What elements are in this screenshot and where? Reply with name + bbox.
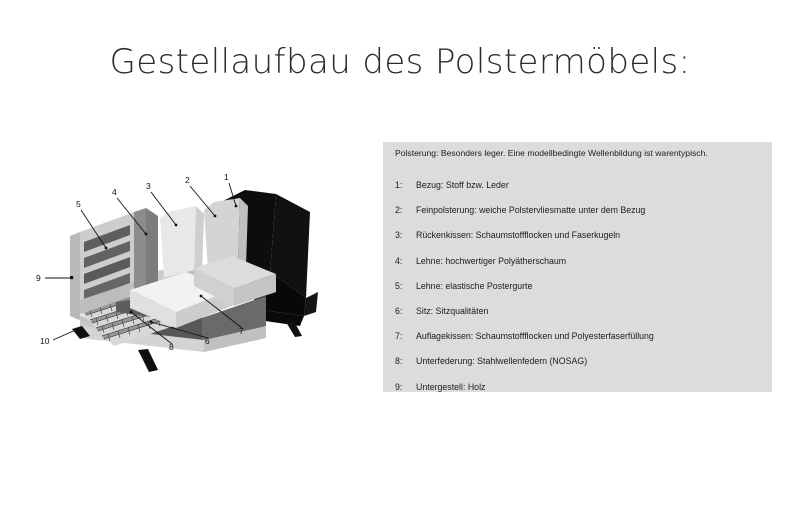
legend-item-number: 4: (395, 256, 416, 266)
legend-item-text: Sitz: Sitzqualitäten (416, 306, 765, 316)
legend-item-7: 7: Auflagekissen: Schaumstoffflocken und… (395, 331, 765, 356)
legend-item-text: Lehne: hochwertiger Polyätherschaum (416, 256, 765, 266)
legend-item-text: Rückenkissen: Schaumstoffflocken und Fas… (416, 230, 765, 240)
legend-item-number: 7: (395, 331, 416, 341)
callout-label-4: 4 (112, 187, 117, 197)
legend-item-number: 8: (395, 356, 416, 366)
legend-item-number: 5: (395, 281, 416, 291)
callout-label-5: 5 (76, 199, 81, 209)
callout-label-7: 7 (239, 326, 244, 336)
legend-item-1: 1: Bezug: Stoff bzw. Leder (395, 180, 765, 205)
legend-item-4: 4: Lehne: hochwertiger Polyätherschaum (395, 256, 765, 281)
legend-item-number: 3: (395, 230, 416, 240)
callout-label-6: 6 (205, 336, 210, 346)
legend-item-6: 6: Sitz: Sitzqualitäten (395, 306, 765, 331)
callout-label-2: 2 (185, 175, 190, 185)
legend-item-2: 2: Feinpolsterung: weiche Polstervliesma… (395, 205, 765, 230)
legend-item-5: 5: Lehne: elastische Postergurte (395, 281, 765, 306)
legend-item-number: 2: (395, 205, 416, 215)
page-title: Gestellaufbau des Polstermöbels: (0, 42, 800, 82)
callout-label-3: 3 (146, 181, 151, 191)
legend-item-number: 9: (395, 382, 416, 392)
legend-item-text: Bezug: Stoff bzw. Leder (416, 180, 765, 190)
legend-item-number: 6: (395, 306, 416, 316)
callout-label-8: 8 (169, 342, 174, 352)
legend-item-text: Auflagekissen: Schaumstoffflocken und Po… (416, 331, 765, 341)
callout-9: 9 (36, 273, 73, 283)
callout-label-10: 10 (40, 336, 50, 346)
legend-item-number: 1: (395, 180, 416, 190)
sofa-cutaway-illustration: 1 2 3 4 5 (18, 150, 358, 385)
legend-panel: Polsterung: Besonders leger. Eine modell… (383, 142, 772, 392)
legend-list: 1: Bezug: Stoff bzw. Leder 2: Feinpolste… (395, 180, 765, 392)
legend-intro-text: Polsterung: Besonders leger. Eine modell… (395, 148, 751, 160)
callout-label-1: 1 (224, 172, 229, 182)
callout-label-9: 9 (36, 273, 41, 283)
legend-item-8: 8: Unterfederung: Stahlwellenfedern (NOS… (395, 356, 765, 381)
legend-item-text: Feinpolsterung: weiche Polstervliesmatte… (416, 205, 765, 215)
legend-item-text: Untergestell: Holz (416, 382, 765, 392)
legend-item-text: Lehne: elastische Postergurte (416, 281, 765, 291)
legend-item-9: 9: Untergestell: Holz (395, 382, 765, 393)
legend-item-3: 3: Rückenkissen: Schaumstoffflocken und … (395, 230, 765, 255)
legend-item-text: Unterfederung: Stahlwellenfedern (NOSAG) (416, 356, 765, 366)
